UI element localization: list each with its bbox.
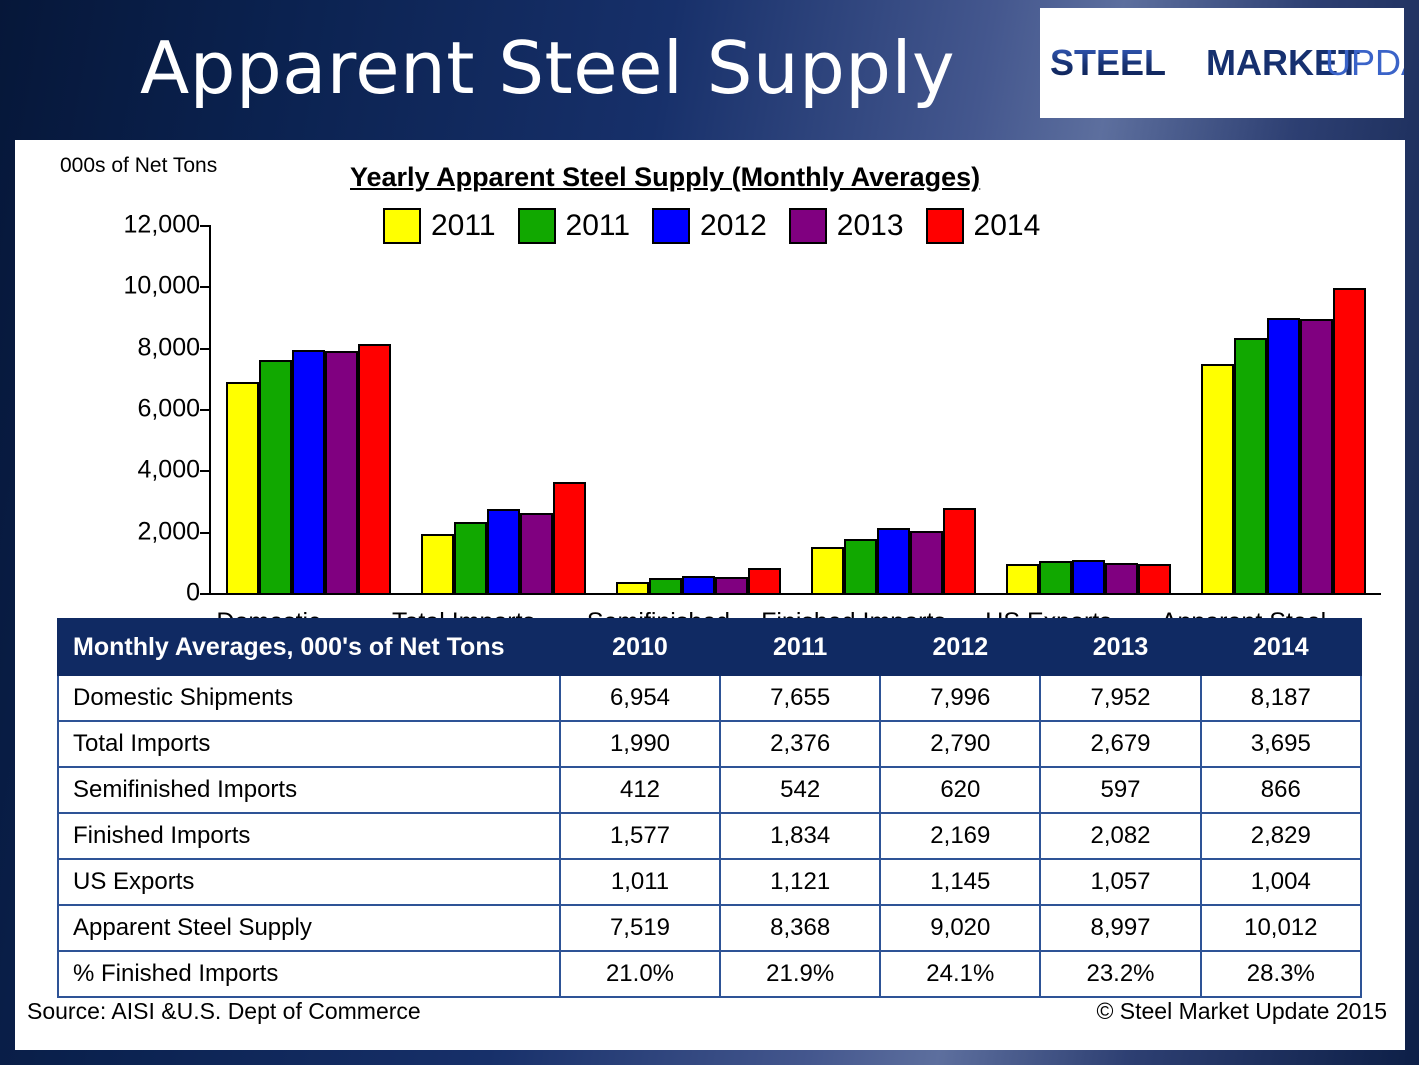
y-axis-tick-mark [200, 225, 209, 227]
y-axis-tick-mark [200, 409, 209, 411]
table-cell-value: 1,990 [560, 721, 720, 767]
table-cell-value: 28.3% [1201, 951, 1361, 997]
table-cell-value: 8,368 [720, 905, 880, 951]
bar-group [796, 225, 991, 595]
bar [358, 344, 391, 595]
table-cell-label: Total Imports [58, 721, 560, 767]
copyright-note: © Steel Market Update 2015 [1096, 998, 1387, 1025]
bar [715, 577, 748, 595]
table-header-row: Monthly Averages, 000's of Net Tons20102… [58, 619, 1361, 675]
table-cell-value: 6,954 [560, 675, 720, 721]
bar [1006, 564, 1039, 595]
table-col-header-year: 2014 [1201, 619, 1361, 675]
table-cell-value: 1,145 [880, 859, 1040, 905]
table-cell-value: 2,169 [880, 813, 1040, 859]
table-row: Total Imports1,9902,3762,7902,6793,695 [58, 721, 1361, 767]
bar [1300, 319, 1333, 595]
table-row: % Finished Imports21.0%21.9%24.1%23.2%28… [58, 951, 1361, 997]
bar [1039, 561, 1072, 595]
table-cell-value: 2,829 [1201, 813, 1361, 859]
table-cell-value: 3,695 [1201, 721, 1361, 767]
table-cell-value: 542 [720, 767, 880, 813]
y-axis-tick-label: 2,000 [137, 517, 200, 546]
slide-root: Apparent Steel Supply STEEL MARKET UPDAT… [0, 0, 1419, 1065]
bar [292, 350, 325, 595]
table-col-header-year: 2012 [880, 619, 1040, 675]
y-axis-tick-label: 8,000 [137, 333, 200, 362]
table-cell-value: 412 [560, 767, 720, 813]
table-cell-value: 24.1% [880, 951, 1040, 997]
bar [910, 531, 943, 595]
table-cell-value: 7,952 [1040, 675, 1200, 721]
table-cell-label: Domestic Shipments [58, 675, 560, 721]
logo-word-steel: STEEL [1050, 42, 1166, 84]
bar [748, 568, 781, 595]
table-col-header-year: 2011 [720, 619, 880, 675]
table-col-header-year: 2013 [1040, 619, 1200, 675]
y-axis-tick-mark [200, 593, 209, 595]
bar [1138, 564, 1171, 595]
bar [682, 576, 715, 595]
table-cell-value: 2,376 [720, 721, 880, 767]
steel-market-update-logo: STEEL MARKET UPDATE [1040, 8, 1404, 118]
y-axis-tick-label: 12,000 [124, 211, 200, 240]
table-cell-value: 2,790 [880, 721, 1040, 767]
table-cell-value: 7,655 [720, 675, 880, 721]
table-cell-value: 8,187 [1201, 675, 1361, 721]
table-cell-value: 23.2% [1040, 951, 1200, 997]
table-row: Apparent Steel Supply7,5198,3689,0208,99… [58, 905, 1361, 951]
bar [943, 508, 976, 595]
data-table: Monthly Averages, 000's of Net Tons20102… [57, 618, 1362, 998]
table-cell-value: 866 [1201, 767, 1361, 813]
table-cell-value: 620 [880, 767, 1040, 813]
bar [553, 482, 586, 595]
y-axis-tick-mark [200, 532, 209, 534]
bar [454, 522, 487, 595]
table-row: Domestic Shipments6,9547,6557,9967,9528,… [58, 675, 1361, 721]
table-row: Finished Imports1,5771,8342,1692,0822,82… [58, 813, 1361, 859]
bar [1234, 338, 1267, 595]
bar-group [1186, 225, 1381, 595]
y-axis-tick-mark [200, 286, 209, 288]
bar [649, 578, 682, 595]
table-cell-value: 1,057 [1040, 859, 1200, 905]
bar [1333, 288, 1366, 595]
table-col-header-label: Monthly Averages, 000's of Net Tons [58, 619, 560, 675]
table-cell-value: 21.0% [560, 951, 720, 997]
table-cell-label: Finished Imports [58, 813, 560, 859]
bar [877, 528, 910, 595]
y-axis-tick-label: 10,000 [124, 272, 200, 301]
bar [1201, 364, 1234, 595]
chart-units-label: 000s of Net Tons [60, 154, 217, 178]
table-row: US Exports1,0111,1211,1451,0571,004 [58, 859, 1361, 905]
bar [844, 539, 877, 595]
table-cell-label: Apparent Steel Supply [58, 905, 560, 951]
table-cell-value: 1,004 [1201, 859, 1361, 905]
source-note: Source: AISI &U.S. Dept of Commerce [27, 998, 421, 1025]
table-header: Monthly Averages, 000's of Net Tons20102… [58, 619, 1361, 675]
table-col-header-year: 2010 [560, 619, 720, 675]
table-row: Semifinished Imports412542620597866 [58, 767, 1361, 813]
content-card: 000s of Net Tons Yearly Apparent Steel S… [15, 140, 1405, 1050]
table-body: Domestic Shipments6,9547,6557,9967,9528,… [58, 675, 1361, 997]
table-cell-label: Semifinished Imports [58, 767, 560, 813]
logo-word-update: UPDATE [1325, 42, 1404, 84]
bar [487, 509, 520, 595]
bar [616, 582, 649, 595]
chart-title: Yearly Apparent Steel Supply (Monthly Av… [350, 162, 980, 193]
table-cell-value: 2,082 [1040, 813, 1200, 859]
bar-group [991, 225, 1186, 595]
bar [1267, 318, 1300, 595]
table-cell-value: 1,011 [560, 859, 720, 905]
table-cell-value: 597 [1040, 767, 1200, 813]
table-cell-value: 2,679 [1040, 721, 1200, 767]
page-title: Apparent Steel Supply [140, 26, 955, 110]
bar-group [601, 225, 796, 595]
bar-groups [211, 225, 1381, 595]
y-axis-tick-label: 4,000 [137, 456, 200, 485]
bar-group [406, 225, 601, 595]
bar [1072, 560, 1105, 595]
bar [325, 351, 358, 595]
bar [811, 547, 844, 595]
bar [226, 382, 259, 595]
table-cell-value: 1,577 [560, 813, 720, 859]
bar [421, 534, 454, 595]
table-cell-label: % Finished Imports [58, 951, 560, 997]
bar [259, 360, 292, 595]
table-cell-value: 1,834 [720, 813, 880, 859]
bar [520, 513, 553, 595]
chart-plot-area: 12,00010,0008,0006,0004,0002,0000 [55, 215, 1385, 600]
table-cell-value: 21.9% [720, 951, 880, 997]
table-cell-value: 7,996 [880, 675, 1040, 721]
y-axis-tick-label: 0 [186, 579, 200, 608]
table-cell-value: 8,997 [1040, 905, 1200, 951]
y-axis-tick-label: 6,000 [137, 395, 200, 424]
bar [1105, 563, 1138, 595]
table-cell-value: 9,020 [880, 905, 1040, 951]
table-cell-value: 10,012 [1201, 905, 1361, 951]
bar-group [211, 225, 406, 595]
table-cell-value: 7,519 [560, 905, 720, 951]
y-axis-tick-mark [200, 348, 209, 350]
table-cell-value: 1,121 [720, 859, 880, 905]
table-cell-label: US Exports [58, 859, 560, 905]
y-axis-tick-mark [200, 470, 209, 472]
